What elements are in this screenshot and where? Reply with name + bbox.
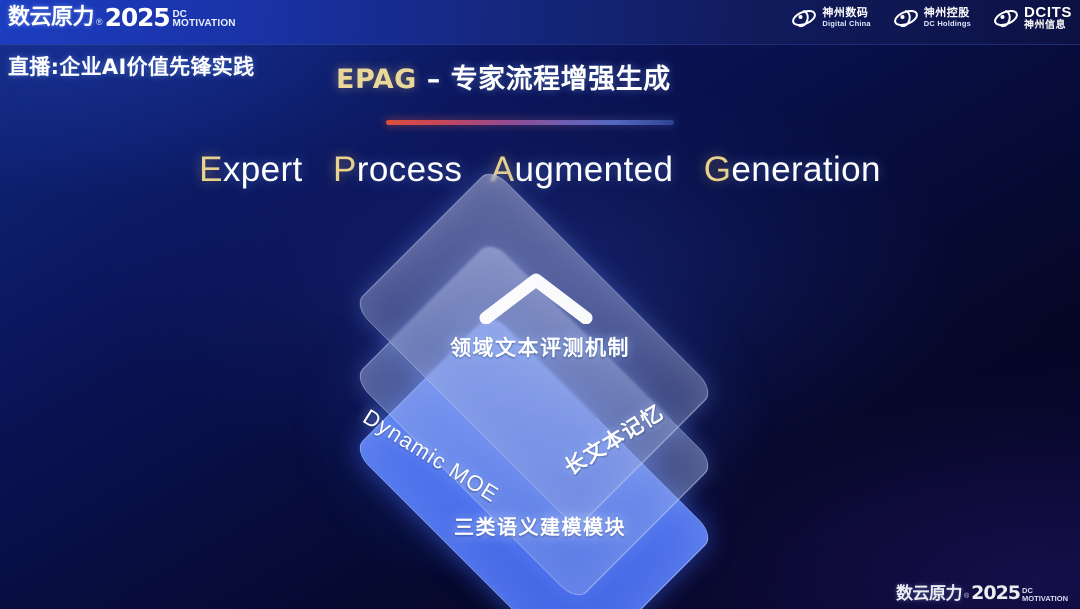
logo-digital-china-words: 神州数码 Digital China [822, 7, 870, 29]
page-title-chinese: – 专家流程增强生成 [417, 64, 671, 95]
logo-dc-holdings: 神州控股 DC Holdings [893, 7, 971, 29]
expansion-word-augmented: Augmented [491, 150, 674, 189]
watermark-name-cn: 数云原力 [896, 585, 962, 603]
logo-dc-holdings-en: DC Holdings [924, 18, 971, 29]
logo-digital-china: 神州数码 Digital China [791, 7, 870, 29]
logo-dc-holdings-words: 神州控股 DC Holdings [924, 7, 971, 29]
brand-tagline-line2: MOTIVATION [172, 19, 235, 28]
expansion-space-3 [683, 150, 693, 189]
layer-label-bottom: 三类语义建模模块 [0, 511, 1080, 540]
brand-tagline: DC MOTIVATION [172, 10, 235, 30]
brand-lockup: 数云原力 ® 2025 DC MOTIVATION [8, 2, 236, 30]
brand-year: 2025 [105, 5, 170, 30]
brand-registered-mark: ® [96, 14, 103, 30]
layer-label-top: 领域文本评测机制 [0, 332, 1080, 362]
logo-digital-china-cn: 神州数码 [822, 7, 870, 18]
brand-name-cn: 数云原力 [8, 6, 94, 30]
logo-digital-china-en: Digital China [822, 18, 870, 29]
swirl-logo-icon [893, 7, 919, 29]
swirl-logo-icon [993, 7, 1019, 29]
logo-dcits: 神州信息 DCITS [993, 5, 1072, 31]
logo-dcits-en: DCITS [1024, 5, 1072, 20]
watermark-registered-mark: ® [964, 591, 969, 603]
corner-watermark: 数云原力 ® 2025 DC MOTIVATION [896, 584, 1068, 603]
logo-dcits-words: 神州信息 DCITS [1024, 5, 1072, 31]
watermark-tagline-line2: MOTIVATION [1022, 595, 1068, 603]
swirl-logo-icon [791, 7, 817, 29]
expansion-word-expert: Expert [199, 150, 303, 189]
acronym-expansion: Expert Process Augmented Generation [0, 150, 1080, 190]
watermark-tagline: DC MOTIVATION [1022, 587, 1068, 603]
expansion-word-process: Process [333, 150, 462, 189]
page-title-acronym: EPAG [336, 64, 417, 95]
partner-logo-row: 神州数码 Digital China 神州控股 DC Holdings [791, 5, 1072, 31]
logo-dc-holdings-cn: 神州控股 [924, 7, 971, 18]
chevron-up-icon [478, 272, 594, 324]
page-title: EPAG – 专家流程增强生成 [336, 57, 671, 96]
watermark-year: 2025 [971, 584, 1020, 603]
logo-dcits-cn: 神州信息 [1024, 20, 1072, 31]
live-subtitle: 直播:企业AI价值先锋实践 [8, 51, 254, 81]
expansion-word-generation: Generation [704, 150, 881, 189]
accent-divider-bar [386, 120, 674, 125]
expansion-space-1 [313, 150, 323, 189]
slide-canvas: 数云原力 ® 2025 DC MOTIVATION 直播:企业AI价值先锋实践 … [0, 0, 1080, 609]
